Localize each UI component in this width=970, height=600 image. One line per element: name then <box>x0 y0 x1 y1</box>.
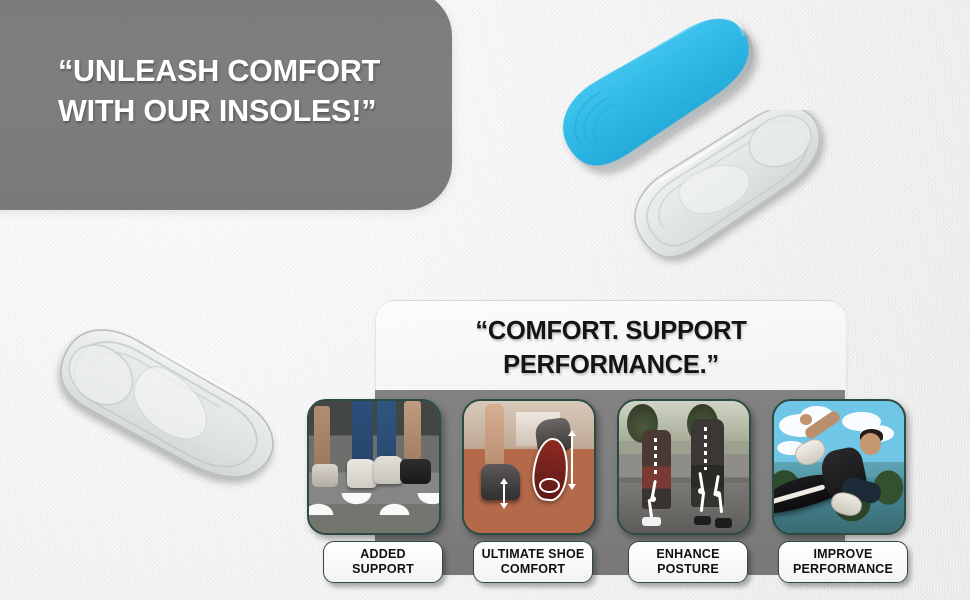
quote-panel: “UNLEASH COMFORT WITH OUR INSOLES!” <box>0 0 452 210</box>
caption-line-2: POSTURE <box>657 562 719 576</box>
headline-line-2: WITH OUR INSOLES!” <box>58 92 438 132</box>
runner-calf <box>485 404 505 467</box>
feature-headline-line-1: “COMFORT. SUPPORT <box>376 315 846 349</box>
caption-line-1: ENHANCE <box>656 547 719 561</box>
feature-headline-line-2: PERFORMANCE.” <box>376 349 846 383</box>
sandal-left <box>312 464 338 486</box>
photo-runner-track-sole-diagram <box>464 401 594 533</box>
walker-shoe-1 <box>642 517 660 526</box>
arrow-small-icon <box>503 483 505 504</box>
feature-panel-headline: “COMFORT. SUPPORT PERFORMANCE.” <box>376 315 846 382</box>
caption-line-1: ULTIMATE SHOE <box>482 547 585 561</box>
sneaker-right <box>374 456 403 484</box>
photo-skateboarder-jump <box>774 401 904 533</box>
skater-head <box>860 433 881 455</box>
caption-line-1: ADDED <box>360 547 405 561</box>
spine-overlay-right <box>704 427 707 469</box>
gel-insole-left-image <box>22 300 292 550</box>
arrow-vertical-icon <box>571 435 573 485</box>
joint-marker-3 <box>715 491 721 497</box>
caption-enhance-posture[interactable]: ENHANCE POSTURE <box>628 541 748 583</box>
caption-text: IMPROVE PERFORMANCE <box>793 547 893 577</box>
sneaker-left <box>347 459 377 488</box>
caption-line-2: COMFORT <box>501 562 566 576</box>
feature-thumbnail-added-support[interactable] <box>307 399 441 535</box>
caption-line-2: PERFORMANCE <box>793 562 893 576</box>
caption-added-support[interactable]: ADDED SUPPORT <box>323 541 443 583</box>
photo-walkers-posture-overlay <box>619 401 749 533</box>
gel-insole-right-image <box>600 110 850 275</box>
product-banner: “UNLEASH COMFORT WITH OUR INSOLES!” <box>0 0 970 600</box>
caption-line-2: SUPPORT <box>352 562 414 576</box>
bare-leg-right <box>404 401 421 459</box>
walker-shoe-2 <box>694 516 711 525</box>
sandal-right <box>400 459 431 484</box>
caption-line-1: IMPROVE <box>813 547 872 561</box>
bare-leg-left <box>314 406 330 467</box>
spine-overlay-left <box>654 438 657 478</box>
feature-thumbnail-improve-performance[interactable] <box>772 399 906 535</box>
caption-text: ENHANCE POSTURE <box>656 547 719 577</box>
quote-panel-headline: “UNLEASH COMFORT WITH OUR INSOLES!” <box>58 52 438 131</box>
caption-text: ADDED SUPPORT <box>352 547 414 577</box>
skater-hand <box>800 414 812 425</box>
photo-legs-sneakers-pavement <box>309 401 439 533</box>
jeans-leg-right <box>377 401 397 463</box>
headline-line-1: “UNLEASH COMFORT <box>58 52 438 92</box>
jeans-leg-left <box>352 401 373 467</box>
walker-shoe-3 <box>715 518 732 527</box>
caption-improve-performance[interactable]: IMPROVE PERFORMANCE <box>778 541 908 583</box>
caption-ultimate-shoe-comfort[interactable]: ULTIMATE SHOE COMFORT <box>473 541 593 583</box>
caption-text: ULTIMATE SHOE COMFORT <box>482 547 585 577</box>
feature-thumbnail-ultimate-shoe-comfort[interactable] <box>462 399 596 535</box>
feature-thumbnail-enhance-posture[interactable] <box>617 399 751 535</box>
white-wave-line-overlay <box>307 493 441 514</box>
